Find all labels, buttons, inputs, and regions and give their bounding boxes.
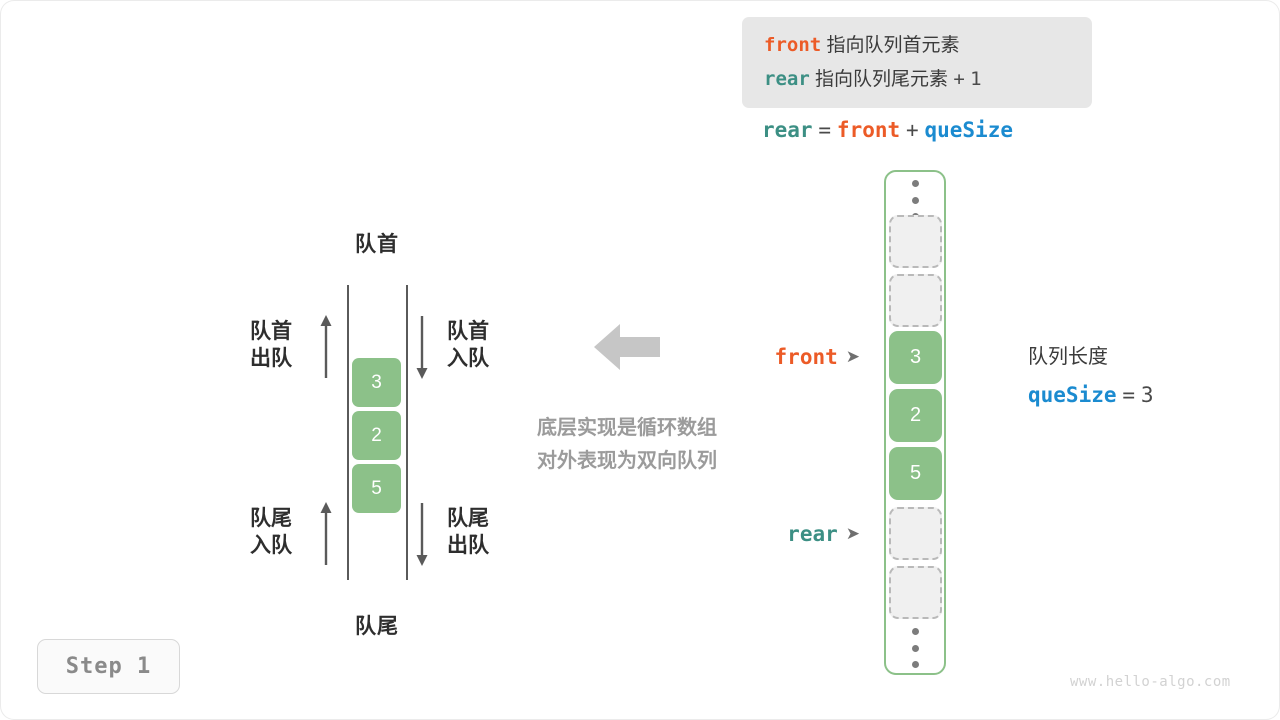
label-front-dequeue-line2: 出队 bbox=[250, 345, 308, 372]
arrow-up-icon bbox=[319, 314, 333, 380]
array-cell: 3 bbox=[889, 331, 942, 384]
caret-right-icon: ➤ bbox=[846, 524, 860, 544]
quesize-value: 3 bbox=[1141, 383, 1154, 407]
legend-rear-text: 指向队列尾元素 bbox=[815, 69, 948, 90]
quesize-equals: = bbox=[1122, 383, 1135, 407]
deque-rail-left bbox=[347, 285, 349, 580]
ellipsis-top-icon bbox=[908, 180, 923, 220]
caret-right-icon: ➤ bbox=[846, 347, 860, 367]
array-cell: 2 bbox=[889, 389, 942, 442]
label-rear-dequeue-line2: 出队 bbox=[447, 532, 489, 559]
legend-front-text: 指向队列首元素 bbox=[826, 35, 959, 56]
label-front-enqueue-line1: 队首 bbox=[447, 318, 489, 345]
center-note: 底层实现是循环数组 对外表现为双向队列 bbox=[504, 412, 750, 478]
legend-front-symbol: front bbox=[764, 34, 821, 56]
arrow-down-icon bbox=[415, 501, 429, 567]
arrow-left-icon bbox=[594, 322, 660, 372]
deque-cell: 2 bbox=[352, 411, 401, 460]
deque-bottom-label: 队尾 bbox=[347, 610, 407, 640]
center-note-line2: 对外表现为双向队列 bbox=[504, 445, 750, 478]
label-rear-enqueue-line2: 入队 bbox=[250, 532, 308, 559]
label-rear-enqueue: 队尾 入队 bbox=[250, 505, 308, 559]
legend-rear-value: 1 bbox=[970, 68, 981, 90]
queue-length-expression: queSize = 3 bbox=[1028, 376, 1154, 415]
deque-cell: 3 bbox=[352, 358, 401, 407]
formula-rhs-quesize: queSize bbox=[924, 118, 1013, 142]
legend-box: front 指向队列首元素 rear 指向队列尾元素 + 1 bbox=[742, 17, 1092, 108]
pointer-front-label: front bbox=[775, 345, 838, 369]
ellipsis-bottom-icon bbox=[908, 628, 923, 668]
formula-plus: + bbox=[906, 118, 919, 142]
array-cell: 5 bbox=[889, 447, 942, 500]
diagram-canvas: front 指向队列首元素 rear 指向队列尾元素 + 1 rear = fr… bbox=[0, 0, 1280, 720]
pointer-rear: rear➤ bbox=[700, 522, 860, 547]
array-cell bbox=[889, 507, 942, 560]
center-note-line1: 底层实现是循环数组 bbox=[504, 412, 750, 445]
arrow-down-icon bbox=[415, 314, 429, 380]
label-front-dequeue-line1: 队首 bbox=[250, 318, 308, 345]
deque-cell: 5 bbox=[352, 464, 401, 513]
deque-top-label: 队首 bbox=[347, 228, 407, 258]
legend-rear-op: + bbox=[953, 68, 964, 90]
label-rear-dequeue-line1: 队尾 bbox=[447, 505, 489, 532]
formula-lhs: rear bbox=[762, 118, 813, 142]
formula-equals: = bbox=[818, 118, 831, 142]
queue-length-note: 队列长度 queSize = 3 bbox=[1028, 338, 1154, 415]
label-rear-dequeue: 队尾 出队 bbox=[447, 505, 489, 559]
label-rear-enqueue-line1: 队尾 bbox=[250, 505, 308, 532]
formula-rhs-front: front bbox=[837, 118, 900, 142]
label-front-enqueue: 队首 入队 bbox=[447, 318, 489, 372]
deque-rail-right bbox=[406, 285, 408, 580]
formula-rear-equals-front-plus-quesize: rear = front + queSize bbox=[762, 118, 1013, 143]
quesize-var: queSize bbox=[1028, 383, 1117, 407]
step-badge: Step 1 bbox=[37, 639, 180, 694]
legend-line-rear: rear 指向队列尾元素 + 1 bbox=[764, 64, 982, 91]
pointer-front: front➤ bbox=[700, 345, 860, 370]
legend-rear-symbol: rear bbox=[764, 68, 810, 90]
watermark: www.hello-algo.com bbox=[1070, 674, 1231, 690]
pointer-rear-label: rear bbox=[787, 522, 838, 546]
array-cell bbox=[889, 274, 942, 327]
label-front-enqueue-line2: 入队 bbox=[447, 345, 489, 372]
array-cell bbox=[889, 566, 942, 619]
queue-length-title: 队列长度 bbox=[1028, 338, 1154, 376]
label-front-dequeue: 队首 出队 bbox=[250, 318, 308, 372]
legend-line-front: front 指向队列首元素 bbox=[764, 30, 960, 57]
arrow-up-icon bbox=[319, 501, 333, 567]
array-cell bbox=[889, 215, 942, 268]
